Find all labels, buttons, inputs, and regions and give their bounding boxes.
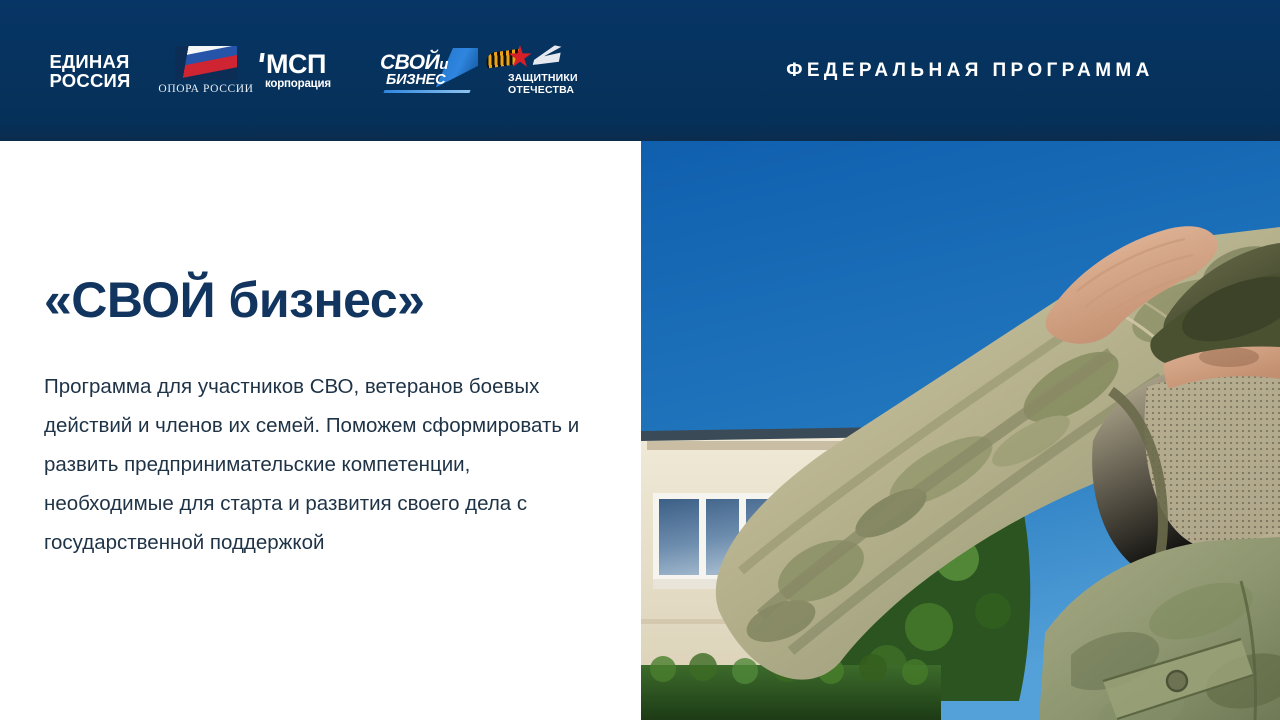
logo-svoi-biznes[interactable]: СВОЙи БИЗНЕС bbox=[370, 0, 486, 141]
poster-slide: ЕДИНАЯ РОССИЯ ОПОРА РОССИИ МСП корпорац bbox=[0, 0, 1280, 720]
underline-accent bbox=[383, 90, 470, 93]
logo-msp-label: МСП bbox=[266, 52, 326, 77]
logo-msp-sublabel: корпорация bbox=[260, 78, 331, 90]
logo-zashchitniki-label: ЗАЩИТНИКИ ОТЕЧЕСТВА bbox=[486, 73, 578, 96]
header-title: ФЕДЕРАЛЬНАЯ ПРОГРАММА bbox=[640, 0, 1280, 141]
logo-opora-rossii[interactable]: ОПОРА РОССИИ bbox=[152, 0, 260, 141]
partner-logo-strip: ЕДИНАЯ РОССИЯ ОПОРА РОССИИ МСП корпорац bbox=[0, 0, 610, 141]
content-panel: «СВОЙ бизнес» Программа для участников С… bbox=[0, 141, 641, 720]
logo-msp-korporaciya[interactable]: МСП корпорация bbox=[260, 0, 370, 141]
logo-opora-rossii-label: ОПОРА РОССИИ bbox=[158, 83, 253, 95]
logo-edinaya-rossiya[interactable]: ЕДИНАЯ РОССИЯ bbox=[28, 0, 152, 141]
msp-wordmark-icon: МСП bbox=[260, 52, 326, 77]
soldier-salute-illustration bbox=[641, 141, 1280, 720]
header-bar: ЕДИНАЯ РОССИЯ ОПОРА РОССИИ МСП корпорац bbox=[0, 0, 1280, 141]
russian-flag-icon bbox=[175, 46, 237, 80]
page-title: «СВОЙ бизнес» bbox=[44, 273, 424, 327]
logo-zashchitniki-otechestva[interactable]: ЗАЩИТНИКИ ОТЕЧЕСТВА bbox=[486, 0, 610, 141]
hero-photo bbox=[641, 141, 1280, 720]
logo-svoi-biznes-sublabel: БИЗНЕС bbox=[386, 73, 445, 88]
logo-edinaya-rossiya-label: ЕДИНАЯ РОССИЯ bbox=[50, 52, 131, 90]
star-ribbon-icon bbox=[486, 45, 578, 71]
lead-paragraph: Программа для участников СВО, ветеранов … bbox=[44, 367, 604, 562]
